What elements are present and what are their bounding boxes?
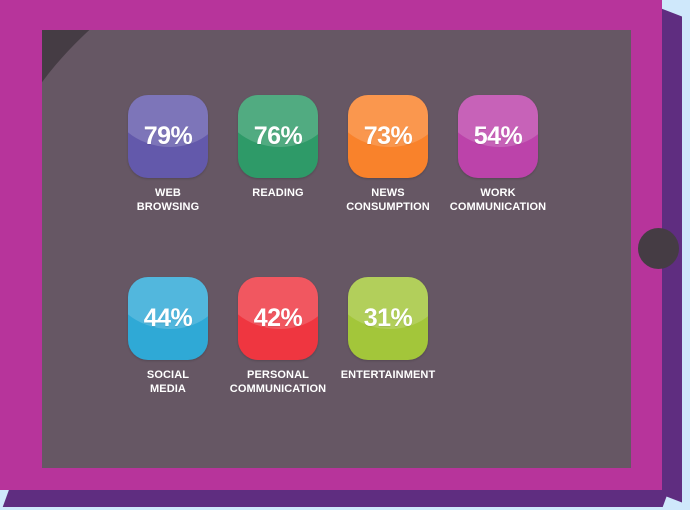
tablet-bottom-shadow [3,487,670,507]
stat-tile[interactable]: 42% [238,277,318,360]
stat-percentage: 54% [474,124,523,149]
stat-label: ENTERTAINMENT [341,369,436,383]
stat-tile[interactable]: 73% [348,95,428,178]
stat-label: NEWSCONSUMPTION [346,187,430,215]
screen-content: 79%WEBBROWSING76%READING73%NEWSCONSUMPTI… [42,30,631,468]
stat-label-line1: SOCIAL [147,369,189,381]
stat-tile[interactable]: 79% [128,95,208,178]
stat-label-line1: READING [252,187,303,199]
stat-label: WORKCOMMUNICATION [450,187,546,215]
infographic-stage: 79%WEBBROWSING76%READING73%NEWSCONSUMPTI… [0,0,690,510]
stat-cell: 31%ENTERTAINMENT [348,277,428,397]
stat-label-line1: NEWS [371,187,404,199]
home-button[interactable] [638,228,679,269]
stat-label-line2: CONSUMPTION [346,201,430,215]
stat-percentage: 76% [254,124,303,149]
stat-label-line1: ENTERTAINMENT [341,369,436,381]
tile-row-2: 44%SOCIALMEDIA42%PERSONALCOMMUNICATION31… [128,277,428,397]
stat-cell: 79%WEBBROWSING [128,95,208,215]
stat-label: READING [252,187,303,201]
stat-tile[interactable]: 31% [348,277,428,360]
stat-percentage: 79% [144,124,193,149]
tablet-screen: 79%WEBBROWSING76%READING73%NEWSCONSUMPTI… [42,30,631,468]
tile-row-1: 79%WEBBROWSING76%READING73%NEWSCONSUMPTI… [128,95,538,215]
stat-percentage: 73% [364,124,413,149]
stat-cell: 42%PERSONALCOMMUNICATION [238,277,318,397]
stat-percentage: 42% [254,306,303,331]
stat-percentage: 44% [144,306,193,331]
stat-label-line1: WORK [480,187,515,199]
stat-cell: 44%SOCIALMEDIA [128,277,208,397]
stat-label-line1: WEB [155,187,181,199]
stat-tile[interactable]: 44% [128,277,208,360]
stat-label-line2: BROWSING [137,201,200,215]
stat-tile[interactable]: 54% [458,95,538,178]
stat-label-line2: MEDIA [147,383,189,397]
stat-label-line2: COMMUNICATION [450,201,546,215]
tablet-bezel: 79%WEBBROWSING76%READING73%NEWSCONSUMPTI… [0,0,662,490]
stat-label-line1: PERSONAL [247,369,309,381]
stat-label: WEBBROWSING [137,187,200,215]
stat-tile[interactable]: 76% [238,95,318,178]
stat-percentage: 31% [364,306,413,331]
stat-label: SOCIALMEDIA [147,369,189,397]
stat-label-line2: COMMUNICATION [230,383,326,397]
stat-cell: 54%WORKCOMMUNICATION [458,95,538,215]
stat-cell: 76%READING [238,95,318,215]
tile-grid: 79%WEBBROWSING76%READING73%NEWSCONSUMPTI… [42,30,631,468]
stat-cell: 73%NEWSCONSUMPTION [348,95,428,215]
stat-label: PERSONALCOMMUNICATION [230,369,326,397]
